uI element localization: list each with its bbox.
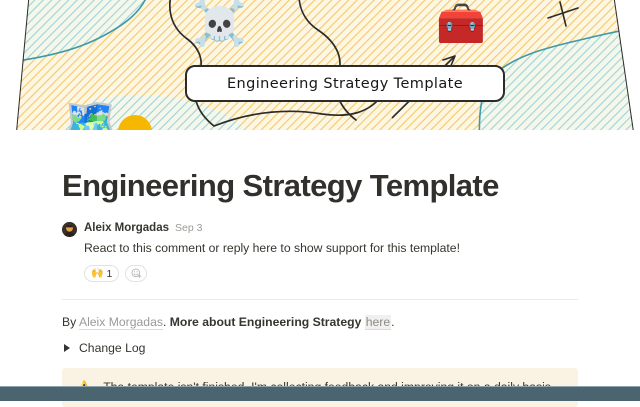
byline-author-link[interactable]: Aleix Morgadas <box>79 315 163 330</box>
bottom-status-bar <box>0 386 640 401</box>
byline-strong-text: More about Engineering Strategy <box>170 315 365 329</box>
add-emoji-icon <box>131 268 142 279</box>
chevron-right-icon[interactable] <box>64 344 70 352</box>
avatar <box>62 222 77 237</box>
skull-and-crossbones-icon: ☠️ <box>192 2 247 46</box>
page-cover-banner[interactable]: ☠️ 🧰 🗺️ Engineering Strategy Template <box>0 0 640 130</box>
comment-author[interactable]: Aleix Morgadas <box>84 222 169 234</box>
reaction-count: 1 <box>106 268 112 280</box>
page-comment[interactable]: Aleix Morgadas Sep 3 React to this comme… <box>62 222 578 283</box>
toggle-change-log[interactable]: Change Log <box>62 341 578 355</box>
byline: By Aleix Morgadas. More about Engineerin… <box>62 313 578 331</box>
comment-header: Aleix Morgadas Sep 3 <box>84 222 578 237</box>
add-reaction-button[interactable] <box>125 265 147 282</box>
comment-body: React to this comment or reply here to s… <box>84 240 578 258</box>
cover-title-text: Engineering Strategy Template <box>227 76 463 92</box>
cover-title-plate: Engineering Strategy Template <box>185 65 505 102</box>
byline-middle: . <box>163 315 170 329</box>
raised-hands-icon: 🙌 <box>91 269 103 279</box>
page-title[interactable]: Engineering Strategy Template <box>62 168 578 204</box>
treasure-chest-icon: 🧰 <box>436 4 486 44</box>
byline-here-link[interactable]: here <box>365 315 391 330</box>
cover-illustration: ☠️ 🧰 🗺️ Engineering Strategy Template <box>0 0 640 130</box>
byline-prefix: By <box>62 315 79 329</box>
comment-date: Sep 3 <box>175 222 202 234</box>
toggle-change-log-label: Change Log <box>79 341 145 355</box>
page-body: Engineering Strategy Template Aleix Morg… <box>0 130 640 386</box>
reaction-chip[interactable]: 🙌 1 <box>84 265 119 282</box>
byline-suffix: . <box>391 315 394 329</box>
content-column: Engineering Strategy Template Aleix Morg… <box>62 130 578 407</box>
section-divider <box>62 299 578 300</box>
world-map-icon: 🗺️ <box>63 100 118 130</box>
comment-reactions: 🙌 1 <box>84 265 578 282</box>
